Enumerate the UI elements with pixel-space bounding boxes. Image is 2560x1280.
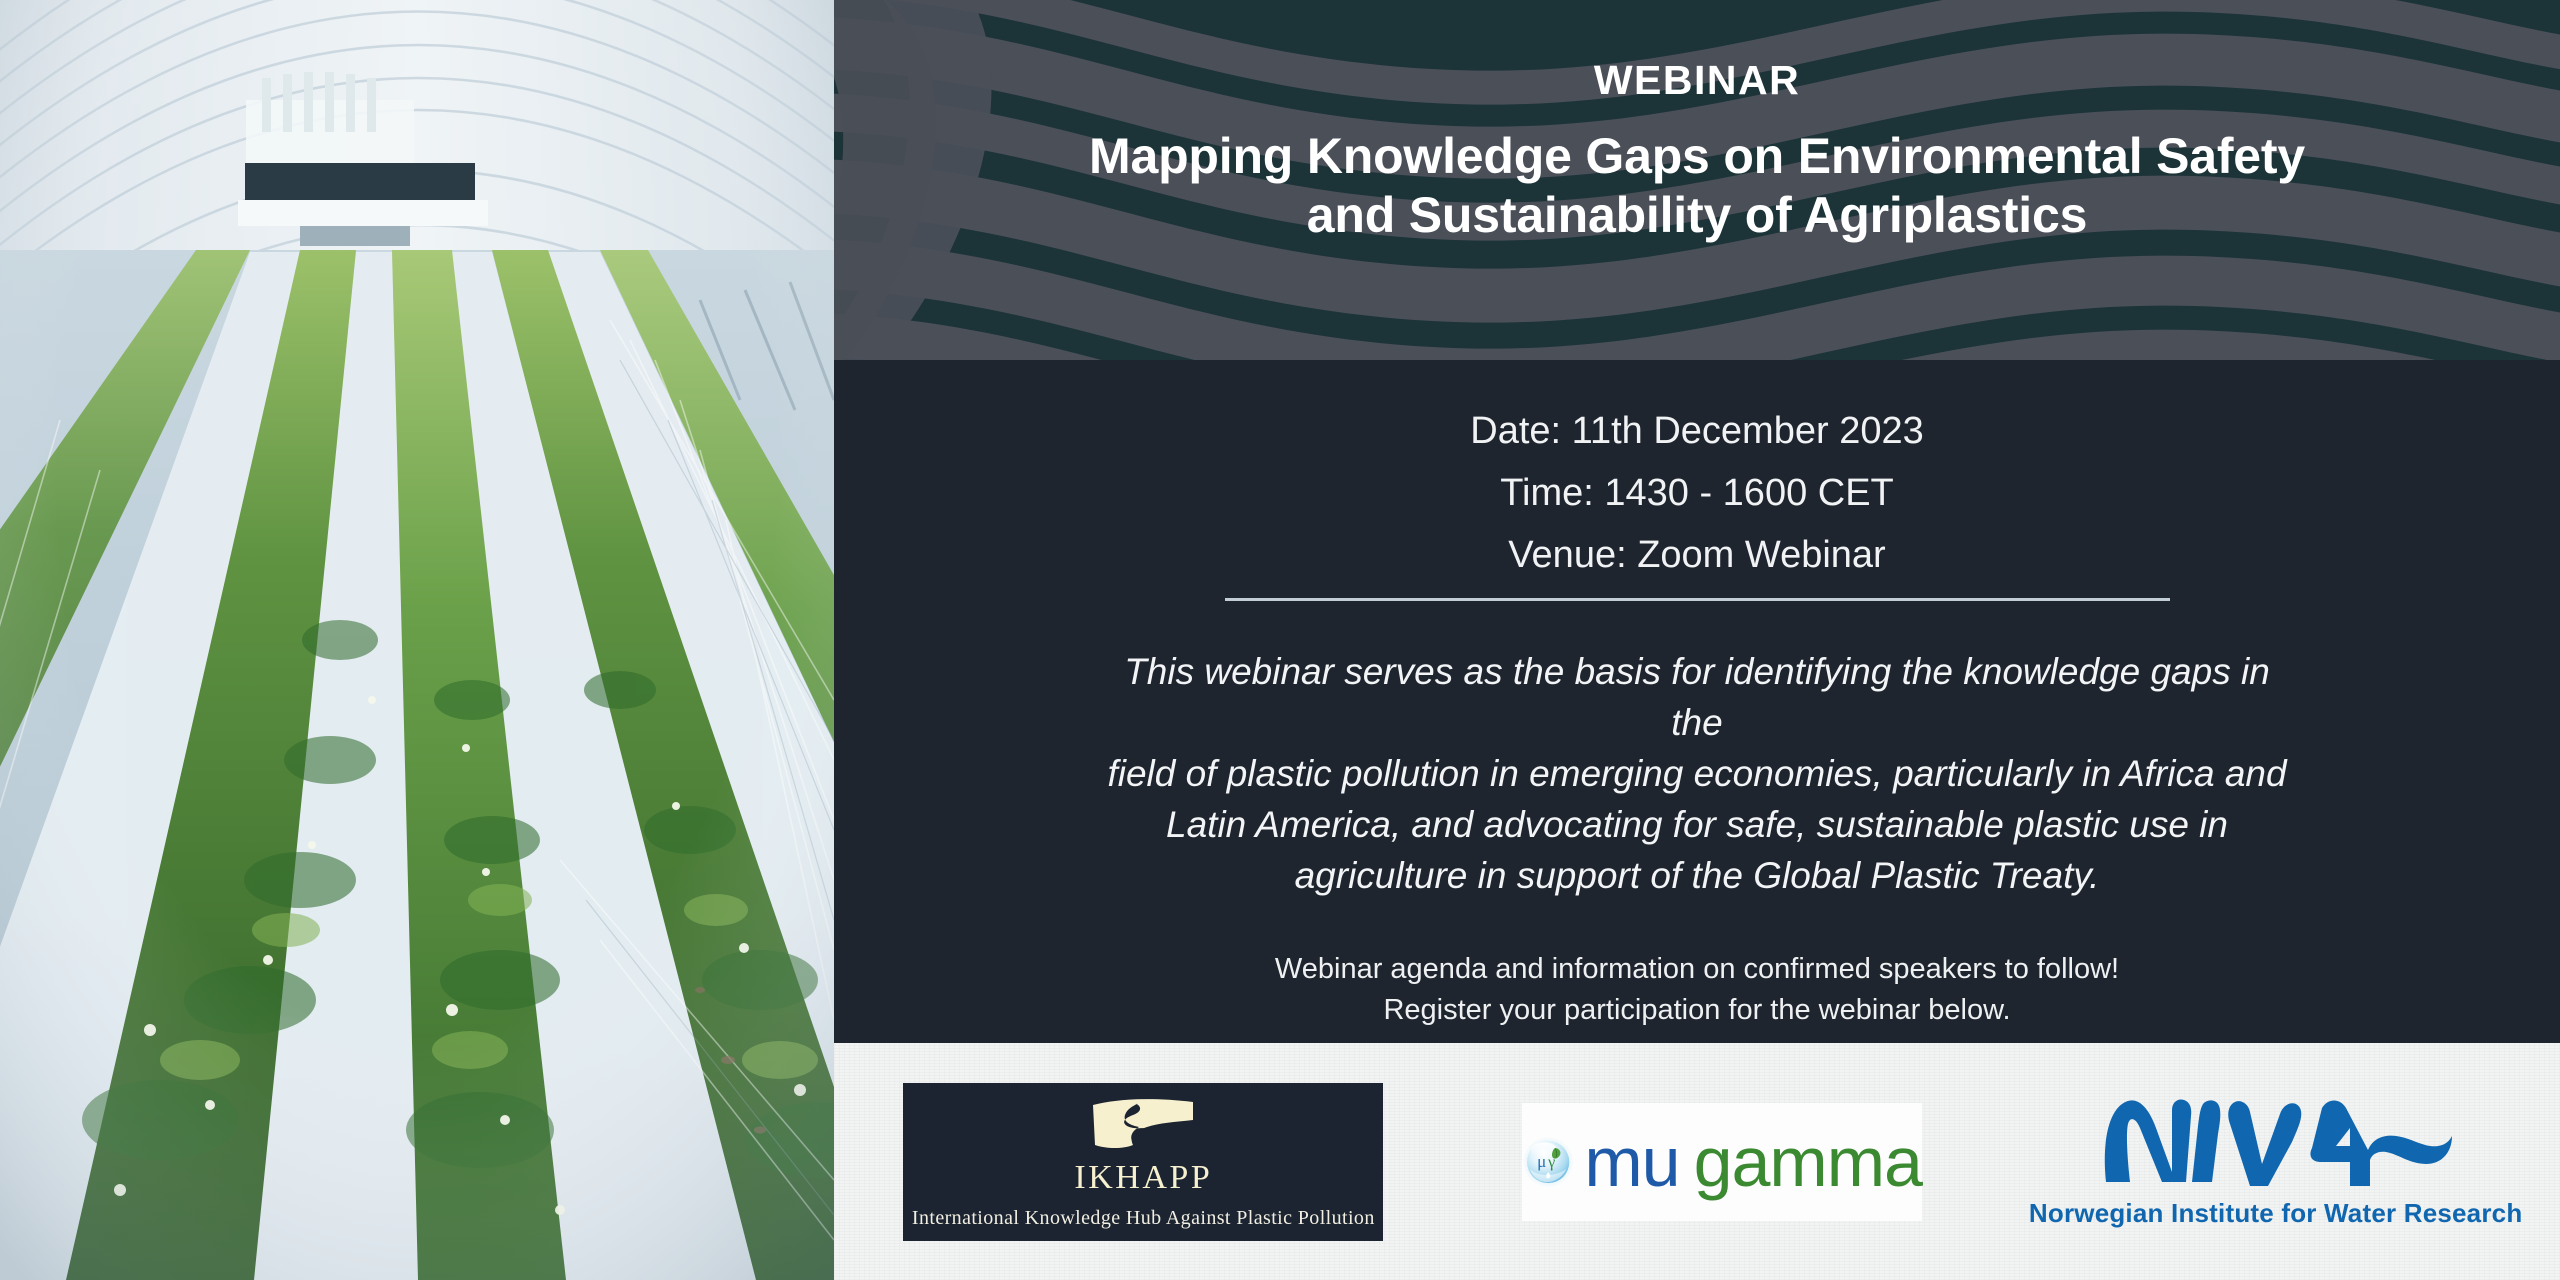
mugamma-wordmark: mu gamma: [1584, 1127, 1922, 1197]
greenhouse-photo-illustration: [0, 0, 834, 1280]
followup-note: Webinar agenda and information on confir…: [1097, 949, 2297, 1031]
event-time: Time: 1430 - 1600 CET: [834, 474, 2560, 512]
svg-text:μ: μ: [1537, 1152, 1546, 1171]
niva-tagline: Norwegian Institute for Water Research: [2029, 1198, 2523, 1229]
ikhapp-wordmark: IKHAPP: [1074, 1161, 1212, 1195]
body-block: Date: 11th December 2023 Time: 1430 - 16…: [834, 360, 2560, 1043]
section-divider: [1225, 598, 2170, 601]
description-line-1: This webinar serves as the basis for ide…: [1107, 646, 2287, 748]
mugamma-word-gamma: gamma: [1694, 1127, 1922, 1197]
logo-bar: IKHAPP International Knowledge Hub Again…: [834, 1043, 2560, 1280]
description-line-4: agriculture in support of the Global Pla…: [1107, 850, 2287, 901]
event-details: Date: 11th December 2023 Time: 1430 - 16…: [834, 360, 2560, 574]
mugamma-logo[interactable]: μ γ mu gamma: [1522, 1103, 1922, 1221]
logo-slot-mugamma: μ γ mu gamma: [1522, 1103, 1922, 1221]
webinar-description: This webinar serves as the basis for ide…: [1107, 646, 2287, 901]
ikhapp-logo[interactable]: IKHAPP International Knowledge Hub Again…: [903, 1083, 1383, 1241]
niva-logo[interactable]: Norwegian Institute for Water Research: [2061, 1094, 2491, 1229]
greenhouse-photo: [0, 0, 834, 1280]
event-venue: Venue: Zoom Webinar: [834, 536, 2560, 574]
description-line-3: Latin America, and advocating for safe, …: [1107, 799, 2287, 850]
ikhapp-tagline: International Knowledge Hub Against Plas…: [912, 1207, 1375, 1230]
description-line-2: field of plastic pollution in emerging e…: [1107, 748, 2287, 799]
niva-wordmark-icon: [2100, 1094, 2452, 1190]
ikhapp-river-icon: [1089, 1093, 1197, 1155]
mugamma-word-mu: mu: [1584, 1127, 1679, 1197]
event-date: Date: 11th December 2023: [834, 412, 2560, 450]
logo-slot-niva: Norwegian Institute for Water Research: [2061, 1094, 2491, 1229]
water-drop-sphere-icon: μ γ: [1522, 1110, 1574, 1214]
wave-header-band: [834, 0, 2560, 360]
followup-line-2: Register your participation for the webi…: [1097, 990, 2297, 1031]
webinar-poster: WEBINAR Mapping Knowledge Gaps on Enviro…: [0, 0, 2560, 1280]
followup-line-1: Webinar agenda and information on confir…: [1097, 949, 2297, 990]
logo-slot-ikhapp: IKHAPP International Knowledge Hub Again…: [903, 1083, 1383, 1241]
wave-pattern: [834, 0, 2560, 360]
